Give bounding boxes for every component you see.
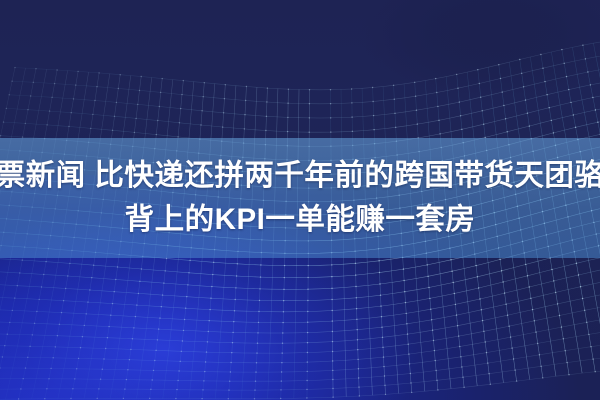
headline-block: 股票新闻 比快递还拼两千年前的跨国带货天团骆驼 背上的KPI一单能赚一套房 bbox=[0, 138, 600, 258]
headline-line-2: 背上的KPI一单能赚一套房 bbox=[125, 198, 476, 242]
news-banner: 股票新闻 比快递还拼两千年前的跨国带货天团骆驼 背上的KPI一单能赚一套房 bbox=[0, 0, 600, 400]
headline-line-1: 股票新闻 比快递还拼两千年前的跨国带货天团骆驼 bbox=[0, 154, 600, 198]
